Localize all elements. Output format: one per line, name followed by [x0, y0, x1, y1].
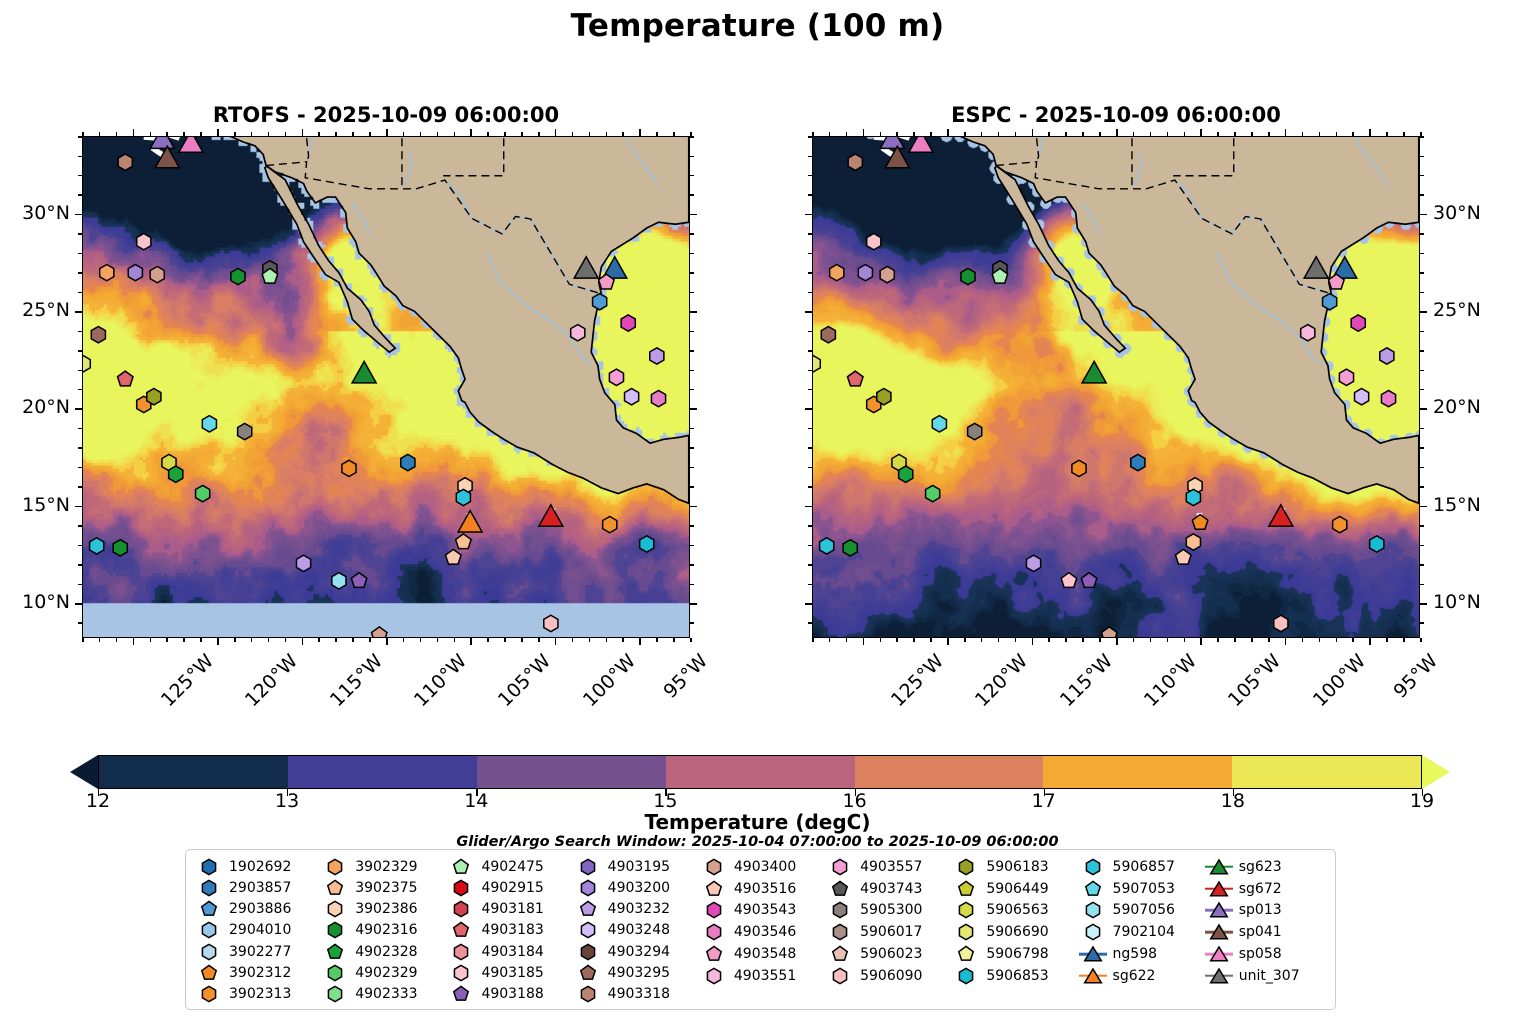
legend-item[interactable]: 2903886 — [194, 899, 320, 920]
legend-marker-icon — [578, 900, 597, 918]
x-tick — [285, 132, 287, 136]
map-marker-4902316 — [113, 540, 127, 556]
map-marker-sg672 — [1269, 505, 1293, 526]
legend-swatch — [320, 878, 350, 898]
legend-marker-icon — [200, 943, 219, 961]
legend-item[interactable]: 5907053 — [1078, 878, 1204, 900]
legend-item[interactable]: 4903516 — [699, 878, 825, 900]
y-tick — [1420, 370, 1424, 372]
legend-item-label: sg623 — [1234, 859, 1282, 875]
legend-item[interactable]: 4903557 — [825, 856, 951, 878]
x-tick — [521, 132, 523, 136]
colorbar-segment — [524, 756, 548, 788]
legend-item[interactable]: 4903184 — [446, 941, 572, 962]
legend-item[interactable]: 3902277 — [194, 941, 320, 962]
y-tick — [690, 564, 694, 566]
legend-swatch — [1078, 944, 1108, 964]
legend-item-label: 5906449 — [981, 881, 1048, 897]
figure-canvas: Temperature (100 m) RTOFS - 2025-10-09 0… — [0, 0, 1515, 1017]
legend-item[interactable]: unit_307 — [1204, 965, 1327, 987]
colorbar-segment — [264, 756, 288, 788]
legend-swatch — [1078, 857, 1108, 877]
y-tick-label: 20°N — [1433, 396, 1481, 418]
x-tick — [812, 132, 814, 136]
x-tick — [1234, 638, 1236, 642]
legend-item-label: 4903181 — [476, 901, 543, 917]
x-tick — [1082, 132, 1084, 136]
legend-swatch — [699, 900, 729, 920]
legend-item-label: 7902104 — [1108, 924, 1175, 940]
legend-swatch — [194, 984, 224, 1004]
x-tick — [964, 638, 966, 642]
legend-item[interactable]: 4903546 — [699, 921, 825, 943]
legend-columns: 1902692 2903857 2903886 2904010 — [186, 850, 1335, 1009]
legend-item-label: 4903551 — [729, 968, 796, 984]
legend-column: 4902475 4902915 4903181 4903183 — [446, 856, 572, 1005]
map-marker-4903295 — [91, 327, 105, 343]
legend-item-label: 4903184 — [476, 944, 543, 960]
x-tick — [1099, 638, 1101, 642]
x-tick — [1336, 638, 1338, 642]
legend-marker-icon — [1209, 924, 1228, 941]
y-tick — [1420, 428, 1424, 430]
colorbar-segment — [99, 756, 123, 788]
legend-marker-icon — [1209, 946, 1228, 963]
colorbar-segment — [406, 756, 430, 788]
map-marker-3902312 — [1072, 460, 1086, 476]
x-tick — [572, 638, 574, 642]
legend-swatch — [194, 899, 224, 919]
legend-item-label: 5906690 — [981, 924, 1048, 940]
map-panel-rtofs[interactable] — [82, 136, 690, 638]
legend-item[interactable]: 4903248 — [573, 920, 699, 941]
legend-marker-icon — [452, 985, 471, 1003]
legend-item[interactable]: sg622 — [1078, 965, 1204, 987]
legend-item[interactable]: 4903200 — [573, 877, 699, 898]
x-tick — [964, 132, 966, 136]
x-tick — [1268, 132, 1270, 136]
x-tick — [656, 132, 658, 136]
y-tick — [78, 156, 82, 158]
x-tick — [1082, 638, 1084, 642]
legend-item[interactable]: 4903743 — [825, 878, 951, 900]
legend-marker-icon — [452, 858, 471, 876]
legend-swatch — [699, 966, 729, 986]
x-tick — [504, 132, 506, 136]
legend-marker-icon — [957, 945, 976, 963]
x-tick — [369, 638, 371, 642]
x-tick — [1133, 638, 1135, 642]
legend-item[interactable]: 4902475 — [446, 856, 572, 877]
map-marker-4903546 — [651, 390, 665, 406]
map-marker-4903551 — [1301, 325, 1315, 341]
legend-item[interactable]: 5906853 — [951, 965, 1077, 987]
legend-swatch — [573, 963, 603, 983]
legend-item-label: 4902329 — [350, 965, 417, 981]
x-tick-label: 100°W — [1309, 650, 1370, 711]
x-tick — [690, 638, 692, 642]
y-tick — [808, 525, 812, 527]
legend-item-label: 4903248 — [603, 922, 670, 938]
y-tick — [1420, 545, 1424, 547]
y-tick — [805, 408, 812, 410]
legend-swatch — [446, 984, 476, 1004]
colorbar-tick-label: 14 — [464, 790, 488, 812]
map-marker-5906857 — [90, 538, 104, 554]
map-marker-4903188 — [351, 573, 367, 588]
y-tick — [1420, 486, 1424, 488]
y-tick-label: 15°N — [1433, 494, 1481, 516]
x-tick — [589, 638, 591, 642]
legend-item[interactable]: sp058 — [1204, 943, 1327, 965]
x-tick — [99, 132, 101, 136]
x-tick — [896, 132, 898, 136]
map-marker-3902313 — [1333, 516, 1347, 532]
legend-item[interactable]: 4903548 — [699, 943, 825, 965]
y-tick — [690, 253, 694, 255]
legend-item[interactable]: 5907056 — [1078, 900, 1204, 922]
legend-item-label: 4902475 — [476, 859, 543, 875]
colorbar-segment — [1398, 756, 1422, 788]
colorbar-segment — [123, 756, 147, 788]
colorbar-segment — [170, 756, 194, 788]
y-tick — [690, 233, 694, 235]
legend-column: 4903195 4903200 4903232 4903248 — [573, 856, 699, 1005]
x-tick-label: 115°W — [326, 650, 387, 711]
legend-marker-icon — [1083, 901, 1102, 919]
x-tick — [1420, 638, 1422, 642]
y-tick — [808, 389, 812, 391]
legend-item[interactable]: 4902333 — [320, 984, 446, 1005]
colorbar-segment — [1161, 756, 1185, 788]
legend-item-label: 2904010 — [224, 922, 291, 938]
legend-item[interactable]: 4903400 — [699, 856, 825, 878]
legend-item-label: 3902386 — [350, 901, 417, 917]
x-tick — [998, 132, 1000, 136]
legend-item[interactable]: 5906798 — [951, 943, 1077, 965]
y-tick — [78, 272, 82, 274]
map-marker-4902329 — [196, 485, 210, 501]
legend-item-label: 1902692 — [224, 859, 291, 875]
legend-item[interactable]: 4903295 — [573, 962, 699, 983]
y-tick — [808, 486, 812, 488]
y-tick — [1420, 292, 1424, 294]
map-marker-3902329 — [830, 264, 844, 280]
y-tick — [690, 156, 694, 158]
map-marker-4903232 — [296, 555, 310, 571]
legend-item[interactable]: ng598 — [1078, 943, 1204, 965]
colorbar-extend-min-icon — [70, 755, 98, 789]
y-tick — [1420, 564, 1424, 566]
legend-marker-icon — [704, 967, 723, 985]
x-tick — [386, 129, 388, 136]
colorbar-segment — [1327, 756, 1351, 788]
x-tick — [1251, 132, 1253, 136]
legend-marker-icon — [578, 858, 597, 876]
x-tick — [981, 132, 983, 136]
colorbar-segment — [217, 756, 241, 788]
x-tick — [1116, 129, 1118, 136]
x-tick — [454, 132, 456, 136]
map-marker-4902328 — [169, 466, 183, 482]
legend-swatch — [1204, 900, 1234, 920]
legend-swatch — [951, 922, 981, 942]
map-marker-3902375 — [1186, 534, 1200, 550]
y-tick — [78, 428, 82, 430]
y-tick — [690, 292, 694, 294]
legend-item-label: 4903548 — [729, 946, 796, 962]
legend-item[interactable]: 4902316 — [320, 920, 446, 941]
x-tick — [403, 132, 405, 136]
x-tick — [1015, 132, 1017, 136]
legend-marker-icon — [326, 879, 345, 897]
legend-item[interactable]: 2903857 — [194, 877, 320, 898]
legend-marker-icon — [704, 880, 723, 898]
y-tick — [78, 370, 82, 372]
y-tick — [1420, 253, 1424, 255]
x-tick — [437, 132, 439, 136]
legend-item[interactable]: 4903551 — [699, 965, 825, 987]
y-tick — [690, 350, 694, 352]
legend-marker-icon — [704, 923, 723, 941]
map-marker-sp058 — [179, 137, 203, 152]
legend-swatch — [825, 922, 855, 942]
legend-item[interactable]: sg672 — [1204, 878, 1327, 900]
legend-swatch — [1078, 922, 1108, 942]
map-marker-4902328 — [899, 466, 913, 482]
y-tick — [75, 214, 82, 216]
colorbar-segment — [1138, 756, 1162, 788]
legend-item-label: 4902915 — [476, 880, 543, 896]
map-marker-3902375 — [456, 534, 472, 549]
colorbar-segment — [996, 756, 1020, 788]
legend-item[interactable]: 5906449 — [951, 878, 1077, 900]
x-tick — [622, 132, 624, 136]
x-tick — [268, 132, 270, 136]
legend-item[interactable]: 5906017 — [825, 921, 951, 943]
legend-swatch — [699, 922, 729, 942]
legend-marker-icon — [578, 985, 597, 1003]
panel-title-rtofs: RTOFS - 2025-10-09 06:00:00 — [82, 103, 690, 127]
legend-box[interactable]: 1902692 2903857 2903886 2904010 — [185, 849, 1336, 1010]
colorbar-segment — [1303, 756, 1327, 788]
legend-item[interactable]: 4903188 — [446, 984, 572, 1005]
legend-item[interactable]: 3902375 — [320, 877, 446, 898]
legend-swatch — [320, 942, 350, 962]
colorbar-segment — [359, 756, 383, 788]
y-tick — [808, 136, 812, 138]
x-tick-label: 100°W — [579, 650, 640, 711]
y-tick — [690, 136, 694, 138]
x-tick — [913, 638, 915, 642]
legend-marker-icon — [704, 858, 723, 876]
colorbar-extend-max-icon — [1422, 755, 1450, 789]
y-tick — [808, 175, 812, 177]
y-tick — [808, 545, 812, 547]
y-tick — [805, 603, 812, 605]
map-marker-5906690 — [813, 356, 820, 372]
legend-item[interactable]: sp013 — [1204, 900, 1327, 922]
y-tick — [690, 389, 694, 391]
x-tick-label: 120°W — [241, 650, 302, 711]
legend-item-label: unit_307 — [1234, 968, 1300, 984]
y-tick — [75, 603, 82, 605]
legend-item-label: 4903183 — [476, 922, 543, 938]
legend-swatch — [194, 963, 224, 983]
legend-swatch — [825, 966, 855, 986]
map-marker-4902329 — [926, 485, 940, 501]
legend-swatch — [320, 963, 350, 983]
legend-marker-icon — [578, 921, 597, 939]
legend-item[interactable]: 5906857 — [1078, 856, 1204, 878]
map-marker-4903400 — [1102, 627, 1118, 637]
legend-item[interactable]: 4902329 — [320, 962, 446, 983]
legend-marker-icon — [831, 945, 850, 963]
x-tick — [880, 132, 882, 136]
legend-item[interactable]: 4903232 — [573, 899, 699, 920]
y-tick — [1420, 136, 1424, 138]
legend-item[interactable]: 4902328 — [320, 941, 446, 962]
colorbar-tick-label: 12 — [86, 790, 110, 812]
map-marker-2903886 — [1323, 294, 1337, 310]
y-tick — [805, 311, 812, 313]
colorbar-segment — [784, 756, 808, 788]
map-overlay-espc — [813, 137, 1419, 637]
x-tick — [673, 638, 675, 642]
x-tick — [1150, 132, 1152, 136]
legend-item[interactable]: sp041 — [1204, 921, 1327, 943]
legend-item[interactable]: 5906023 — [825, 943, 951, 965]
y-tick-label: 25°N — [1433, 299, 1481, 321]
legend-item[interactable]: 7902104 — [1078, 921, 1204, 943]
legend-item[interactable]: 4903181 — [446, 899, 572, 920]
map-marker-2903857 — [1131, 454, 1145, 470]
colorbar-segment — [973, 756, 997, 788]
map-panel-espc[interactable] — [812, 136, 1420, 638]
colorbar-segment — [571, 756, 595, 788]
x-tick-label: 125°W — [157, 650, 218, 711]
map-marker-unit_307 — [574, 257, 598, 278]
legend-marker-icon — [578, 879, 597, 897]
x-tick — [234, 132, 236, 136]
map-marker-5906090 — [544, 615, 558, 631]
y-tick — [1420, 194, 1424, 196]
x-tick — [166, 132, 168, 136]
legend-item[interactable]: 2904010 — [194, 920, 320, 941]
legend-item-label: ng598 — [1108, 946, 1157, 962]
legend-item[interactable]: 3902329 — [320, 856, 446, 877]
y-tick — [690, 194, 694, 196]
colorbar-segment — [807, 756, 831, 788]
legend-item[interactable]: 4903543 — [699, 900, 825, 922]
y-tick — [78, 545, 82, 547]
colorbar-tick-label: 13 — [275, 790, 299, 812]
legend-swatch — [573, 899, 603, 919]
legend-item[interactable]: 5906563 — [951, 900, 1077, 922]
map-marker-4903400 — [880, 266, 894, 282]
y-tick — [1420, 467, 1424, 469]
colorbar-tick-label: 16 — [843, 790, 867, 812]
map-marker-sg672 — [539, 505, 563, 526]
legend-item[interactable]: 3902312 — [194, 962, 320, 983]
legend-swatch — [194, 878, 224, 898]
y-tick — [690, 447, 694, 449]
legend-item[interactable]: 3902313 — [194, 984, 320, 1005]
x-tick — [251, 638, 253, 642]
x-tick-label: 125°W — [887, 650, 948, 711]
colorbar-segment — [453, 756, 477, 788]
colorbar — [70, 755, 1450, 789]
legend-item[interactable]: 4903294 — [573, 941, 699, 962]
y-tick — [78, 564, 82, 566]
legend-item[interactable]: 5906183 — [951, 856, 1077, 878]
legend-swatch — [951, 966, 981, 986]
y-tick — [1420, 447, 1424, 449]
legend-item[interactable]: 5906090 — [825, 965, 951, 987]
x-tick — [1200, 638, 1202, 645]
y-tick — [1420, 214, 1427, 216]
legend-item[interactable]: 4903318 — [573, 984, 699, 1005]
legend-item[interactable]: 4903195 — [573, 856, 699, 877]
x-tick — [812, 638, 814, 642]
x-tick — [863, 638, 865, 645]
colorbar-segment — [382, 756, 406, 788]
legend-item-label: 4903200 — [603, 880, 670, 896]
legend-item[interactable]: sg623 — [1204, 856, 1327, 878]
x-tick — [352, 638, 354, 642]
y-tick — [75, 311, 82, 313]
legend-item[interactable]: 4902915 — [446, 877, 572, 898]
y-tick — [808, 194, 812, 196]
legend-item[interactable]: 4903183 — [446, 920, 572, 941]
legend-swatch — [1078, 966, 1108, 986]
legend-marker-icon — [704, 901, 723, 919]
colorbar-segment — [1374, 756, 1398, 788]
x-tick — [538, 132, 540, 136]
x-tick — [352, 132, 354, 136]
x-tick — [1167, 638, 1169, 642]
legend-item[interactable]: 4903185 — [446, 962, 572, 983]
x-tick — [116, 638, 118, 642]
legend-item-label: 4903516 — [729, 881, 796, 897]
y-tick — [78, 622, 82, 624]
y-tick — [808, 272, 812, 274]
legend-swatch — [446, 920, 476, 940]
legend-item[interactable]: 5905300 — [825, 900, 951, 922]
legend-item[interactable]: 5906690 — [951, 921, 1077, 943]
legend-item-label: 5907056 — [1108, 902, 1175, 918]
map-marker-4903183 — [847, 371, 863, 386]
y-tick — [690, 525, 694, 527]
legend-item-label: 5905300 — [855, 902, 922, 918]
x-tick — [1048, 638, 1050, 642]
x-tick — [217, 638, 219, 645]
x-tick — [183, 638, 185, 642]
legend-marker-icon — [831, 880, 850, 898]
colorbar-tick-label: 15 — [653, 790, 677, 812]
y-tick — [690, 272, 694, 274]
map-marker-5906023 — [446, 549, 462, 564]
legend-item[interactable]: 1902692 — [194, 856, 320, 877]
colorbar-segment — [1209, 756, 1233, 788]
legend-marker-icon — [1209, 858, 1228, 875]
y-tick — [1420, 584, 1424, 586]
legend-item[interactable]: 3902386 — [320, 899, 446, 920]
x-tick — [1065, 638, 1067, 642]
y-tick — [1420, 603, 1427, 605]
legend-column: sg623 sg672 sp013 sp041 — [1204, 856, 1327, 1005]
legend-column: 5906857 5907053 5907056 7902104 — [1078, 856, 1204, 1005]
